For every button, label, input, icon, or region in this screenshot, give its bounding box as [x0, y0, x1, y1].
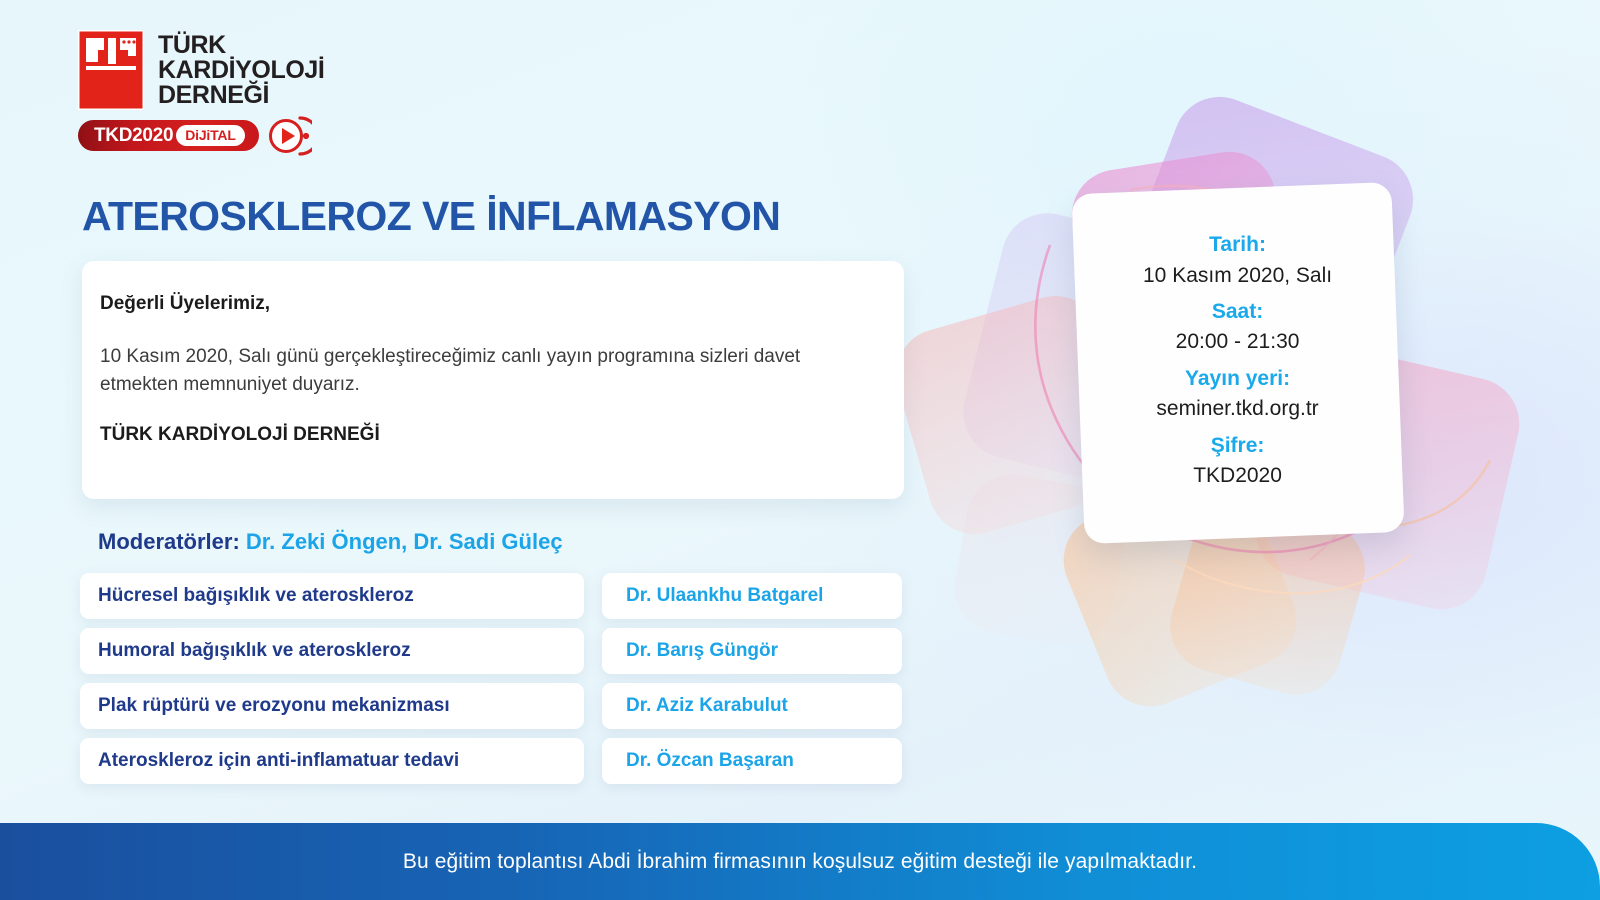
event-badge-title: TKD2020 [94, 125, 173, 147]
detail-value-password: TKD2020 [1143, 461, 1332, 491]
invitation-card: Değerli Üyelerimiz, 10 Kasım 2020, Salı … [82, 261, 904, 499]
program-speaker[interactable]: Dr. Barış Güngör [602, 628, 902, 674]
event-badge-tag: DiJiTAL [176, 125, 244, 146]
moderators-line: Moderatörler: Dr. Zeki Öngen, Dr. Sadi G… [98, 529, 563, 555]
program-row: Hücresel bağışıklık ve ateroskleroz Dr. … [80, 573, 902, 619]
invitation-body: 10 Kasım 2020, Salı günü gerçekleştirece… [100, 343, 860, 398]
play-icon [256, 114, 312, 163]
program-row: Humoral bağışıklık ve ateroskleroz Dr. B… [80, 628, 902, 674]
sponsor-footer: Bu eğitim toplantısı Abdi İbrahim firmas… [0, 823, 1600, 900]
program-topic[interactable]: Humoral bağışıklık ve ateroskleroz [80, 628, 584, 674]
detail-label-date: Tarih: [1143, 229, 1332, 261]
program-topic[interactable]: Plak rüptürü ve erozyonu mekanizması [80, 683, 584, 729]
poster-canvas: TÜRK KARDİYOLOJİ DERNEĞİ TKD2020 DiJiTAL… [0, 0, 1600, 900]
invitation-signature: TÜRK KARDİYOLOJİ DERNEĞİ [100, 424, 864, 446]
program-topic[interactable]: Ateroskleroz için anti-inflamatuar tedav… [80, 738, 584, 784]
tkd-logo: TÜRK KARDİYOLOJİ DERNEĞİ TKD2020 DiJiTAL [78, 30, 408, 156]
moderators-names: Dr. Zeki Öngen, Dr. Sadi Güleç [246, 529, 563, 554]
moderators-label: Moderatörler: [98, 529, 240, 554]
detail-value-time: 20:00 - 21:30 [1143, 328, 1332, 358]
logo-line-2: KARDİYOLOJİ [158, 58, 324, 83]
sponsor-footer-text: Bu eğitim toplantısı Abdi İbrahim firmas… [403, 850, 1197, 874]
program-topic[interactable]: Hücresel bağışıklık ve ateroskleroz [80, 573, 584, 619]
detail-label-time: Saat: [1143, 296, 1332, 328]
event-details-card: Tarih: 10 Kasım 2020, Salı Saat: 20:00 -… [1071, 182, 1404, 544]
detail-value-location[interactable]: seminer.tkd.org.tr [1143, 395, 1332, 425]
detail-value-date: 10 Kasım 2020, Salı [1143, 261, 1332, 291]
event-badge-pill: TKD2020 DiJiTAL [78, 120, 259, 151]
detail-label-password: Şifre: [1143, 430, 1332, 462]
page-title: ATEROSKLEROZ VE İNFLAMASYON [82, 193, 780, 240]
program-speaker[interactable]: Dr. Ulaankhu Batgarel [602, 573, 902, 619]
event-badge: TKD2020 DiJiTAL [78, 116, 408, 156]
logo-wordmark: TÜRK KARDİYOLOJİ DERNEĞİ [158, 30, 324, 107]
logo-line-3: DERNEĞİ [158, 83, 324, 108]
detail-label-location: Yayın yeri: [1143, 363, 1332, 395]
program-row: Plak rüptürü ve erozyonu mekanizması Dr.… [80, 683, 902, 729]
program-list: Hücresel bağışıklık ve ateroskleroz Dr. … [80, 573, 902, 793]
logo-line-1: TÜRK [158, 33, 324, 58]
program-speaker[interactable]: Dr. Aziz Karabulut [602, 683, 902, 729]
heart-logo-icon [78, 30, 144, 110]
program-speaker[interactable]: Dr. Özcan Başaran [602, 738, 902, 784]
program-row: Ateroskleroz için anti-inflamatuar tedav… [80, 738, 902, 784]
invitation-greeting: Değerli Üyelerimiz, [100, 293, 864, 315]
